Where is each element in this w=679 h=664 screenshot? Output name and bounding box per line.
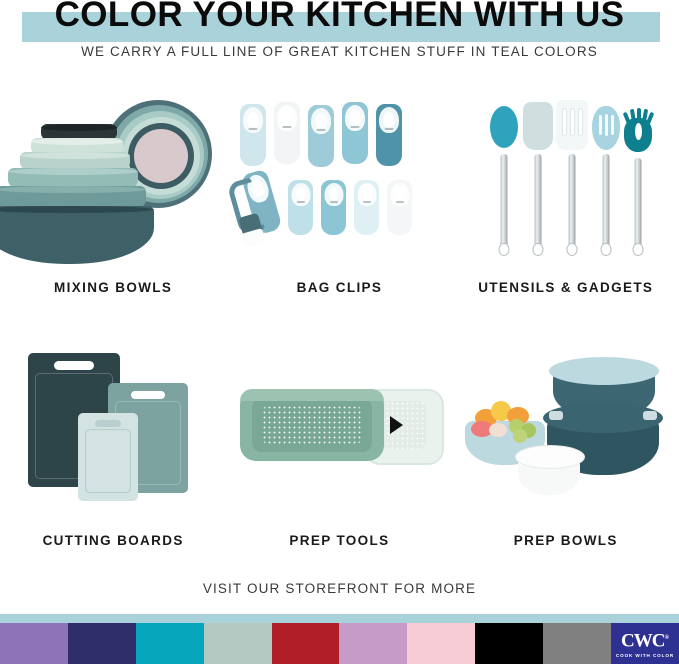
page-title: COLOR YOUR KITCHEN WITH US xyxy=(0,0,679,36)
prep-bowls-image xyxy=(453,341,679,523)
category-label: UTENSILS & GADGETS xyxy=(453,280,679,295)
swatch-pink xyxy=(407,623,475,664)
category-grid: MIXING BOWLS xyxy=(0,88,679,548)
category-prep-bowls[interactable]: PREP BOWLS xyxy=(453,341,679,548)
category-utensils-gadgets[interactable]: UTENSILS & GADGETS xyxy=(453,88,679,295)
category-prep-tools[interactable]: PREP TOOLS xyxy=(226,341,452,548)
swatch-teal xyxy=(136,623,204,664)
prep-tools-image xyxy=(226,341,452,523)
category-row-1: MIXING BOWLS xyxy=(0,88,679,295)
color-swatch-bar: CWC® COOK WITH COLOR xyxy=(0,623,679,664)
swatch-orchid xyxy=(339,623,407,664)
category-row-2: CUTTING BOARDS xyxy=(0,341,679,548)
logo-mark: CWC xyxy=(621,631,664,652)
utensils-gadgets-image xyxy=(453,88,679,270)
swatch-sage xyxy=(204,623,272,664)
footer-accent-strip xyxy=(0,614,679,623)
cutting-boards-image xyxy=(0,341,226,523)
category-cutting-boards[interactable]: CUTTING BOARDS xyxy=(0,341,226,548)
category-label: PREP TOOLS xyxy=(226,533,452,548)
mixing-bowls-image xyxy=(0,88,226,270)
category-label: CUTTING BOARDS xyxy=(0,533,226,548)
bag-clips-image xyxy=(226,88,452,270)
swatch-gray xyxy=(543,623,611,664)
swatch-navy xyxy=(68,623,136,664)
brand-logo[interactable]: CWC® COOK WITH COLOR xyxy=(611,623,679,664)
registered-mark: ® xyxy=(664,635,668,641)
marketing-banner: COLOR YOUR KITCHEN WITH US WE CARRY A FU… xyxy=(0,0,679,664)
category-label: BAG CLIPS xyxy=(226,280,452,295)
category-label: MIXING BOWLS xyxy=(0,280,226,295)
category-label: PREP BOWLS xyxy=(453,533,679,548)
storefront-cta[interactable]: VISIT OUR STOREFRONT FOR MORE xyxy=(0,581,679,596)
header: COLOR YOUR KITCHEN WITH US WE CARRY A FU… xyxy=(0,0,679,76)
swatch-red xyxy=(272,623,340,664)
category-mixing-bowls[interactable]: MIXING BOWLS xyxy=(0,88,226,295)
swatch-purple xyxy=(0,623,68,664)
logo-tagline: COOK WITH COLOR xyxy=(616,653,674,658)
swatch-black xyxy=(475,623,543,664)
category-bag-clips[interactable]: BAG CLIPS xyxy=(226,88,452,295)
page-subtitle: WE CARRY A FULL LINE OF GREAT KITCHEN ST… xyxy=(0,44,679,59)
